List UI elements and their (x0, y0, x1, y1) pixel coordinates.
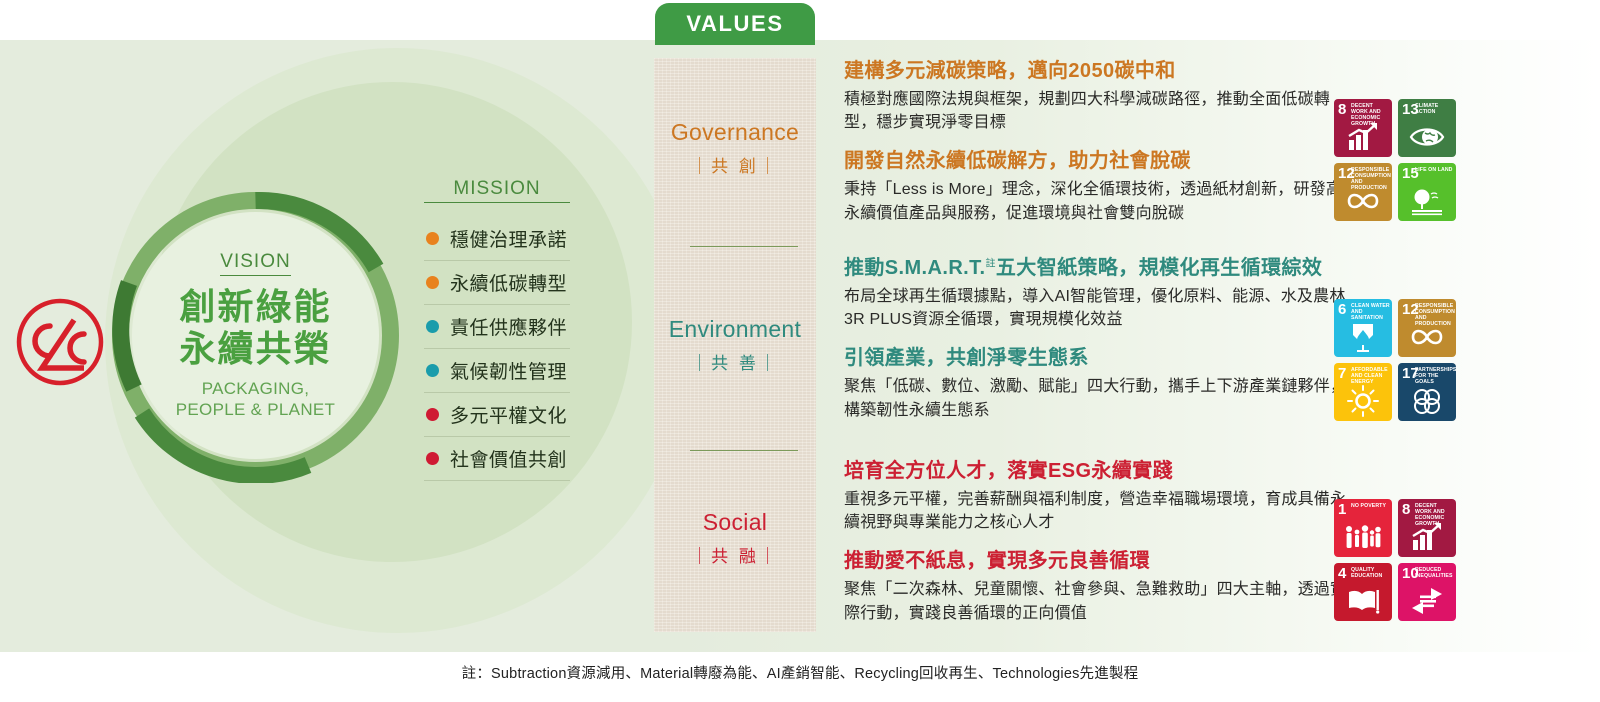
circles-icon (1398, 384, 1456, 418)
eye-globe-icon (1398, 120, 1456, 154)
infinity-icon (1398, 320, 1456, 354)
mission-item-label: 氣候韌性管理 (450, 357, 567, 384)
section-label-cn: ｜共 創｜ (654, 152, 816, 177)
sdg-icon-13: 13Climate action (1398, 99, 1456, 157)
vision-label: VISION (220, 251, 290, 276)
sdg-title: Affordable and clean energy (1351, 367, 1390, 385)
sdg-icon-1: 1No poverty (1334, 499, 1392, 557)
sdg-number: 1 (1338, 502, 1346, 517)
mission-item-label: 穩健治理承諾 (450, 225, 567, 252)
vision-headline: 創新綠能 永續共榮 (179, 286, 331, 370)
headline-main: 推動S.M.A.R.T. (844, 257, 985, 279)
section-label-en: Environment (654, 315, 816, 345)
value-block: 培育全方位人才，落實ESG永續實踐重視多元平權，完善薪酬與福利制度，營造幸福職場… (844, 458, 1354, 534)
mission-item: 責任供應夥伴 (424, 305, 570, 349)
section-content-governance: 建構多元減碳策略，邁向2050碳中和積極對應國際法規與框架，規劃四大科學減碳路徑… (844, 58, 1354, 225)
sdg-title: Quality education (1351, 567, 1390, 579)
value-block-body: 積極對應國際法規與框架，規劃四大科學減碳路徑，推動全面低碳轉型，穩步實現淨零目標 (844, 88, 1354, 134)
values-tab: VALUES (655, 3, 815, 45)
value-block-headline: 培育全方位人才，落實ESG永續實踐 (844, 458, 1354, 485)
sdg-icon-4: 4Quality education (1334, 563, 1392, 621)
vision-headline-line1: 創新綠能 (179, 286, 331, 328)
mission-item-label: 社會價值共創 (450, 445, 567, 472)
sdg-group-governance: 8Decent work and economic growth13Climat… (1334, 99, 1456, 221)
sdg-title: Clean water and sanitation (1351, 303, 1390, 321)
section-label-cn: ｜共 融｜ (654, 542, 816, 567)
mission-item: 氣候韌性管理 (424, 349, 570, 393)
section-content-environment: 推動S.M.A.R.T.註五大智紙策略，規模化再生循環綜效布局全球再生循環據點，… (844, 255, 1354, 422)
sdg-number: 4 (1338, 566, 1346, 581)
value-block-headline: 推動S.M.A.R.T.註五大智紙策略，規模化再生循環綜效 (844, 255, 1354, 282)
sun-icon (1334, 384, 1392, 418)
equal-arrows-icon (1398, 584, 1456, 618)
mission-bullet-icon (426, 364, 439, 377)
section-label-en: Social (654, 508, 816, 538)
sdg-title: Partnerships for the goals (1415, 367, 1454, 385)
mission-item: 多元平權文化 (424, 393, 570, 437)
sdg-icon-8: 8Decent work and economic growth (1334, 99, 1392, 157)
vision-headline-line2: 永續共榮 (179, 328, 331, 370)
sdg-icon-15: 15Life on land (1398, 163, 1456, 221)
mission-bullet-icon (426, 408, 439, 421)
mission-item-label: 多元平權文化 (450, 401, 567, 428)
sdg-title: Life on land (1415, 167, 1454, 173)
value-block-body: 秉持「Less is More」理念，深化全循環技術，透過紙材創新，研發高永續價… (844, 178, 1354, 224)
mission-item: 永續低碳轉型 (424, 261, 570, 305)
mission-bullet-icon (426, 276, 439, 289)
value-block-body: 聚焦「二次森林、兒童關懷、社會參與、急難救助」四大主軸，透過實際行動，實踐良善循… (844, 578, 1354, 624)
section-label-governance: Governance｜共 創｜ (654, 118, 816, 177)
sdg-icon-8: 8Decent work and economic growth (1398, 499, 1456, 557)
value-block: 建構多元減碳策略，邁向2050碳中和積極對應國際法規與框架，規劃四大科學減碳路徑… (844, 58, 1354, 134)
section-content-social: 培育全方位人才，落實ESG永續實踐重視多元平權，完善薪酬與福利制度，營造幸福職場… (844, 458, 1354, 625)
mission-item: 社會價值共創 (424, 437, 570, 481)
value-block-headline: 開發自然永續低碳解方，助力社會脫碳 (844, 148, 1354, 175)
section-label-en: Governance (654, 118, 816, 148)
sdg-icon-6: 6Clean water and sanitation (1334, 299, 1392, 357)
headline-footnote-marker: 註 (985, 258, 995, 269)
sdg-number: 8 (1338, 102, 1346, 117)
sdg-title: Climate action (1415, 103, 1454, 115)
sdg-title: No poverty (1351, 503, 1390, 509)
headline-rest: 五大智紙策略，規模化再生循環綜效 (996, 257, 1322, 279)
mission-bullet-icon (426, 232, 439, 245)
sdg-icon-10: 10Reduced inequalities (1398, 563, 1456, 621)
tree-bird-icon (1398, 184, 1456, 218)
section-label-cn: ｜共 善｜ (654, 349, 816, 374)
water-drop-icon (1334, 320, 1392, 354)
value-block-headline: 建構多元減碳策略，邁向2050碳中和 (844, 58, 1354, 85)
footnote: 註：Subtraction資源減用、Material轉廢為能、AI產銷智能、Re… (0, 662, 1600, 683)
value-block: 開發自然永續低碳解方，助力社會脫碳秉持「Less is More」理念，深化全循… (844, 148, 1354, 224)
sdg-icon-17: 17Partnerships for the goals (1398, 363, 1456, 421)
sdg-icon-12: 12Responsible consumption and production (1334, 163, 1392, 221)
mission-block: MISSION 穩健治理承諾永續低碳轉型責任供應夥伴氣候韌性管理多元平權文化社會… (424, 178, 570, 481)
mission-item: 穩健治理承諾 (424, 217, 570, 261)
value-block: 引領產業，共創淨零生態系聚焦「低碳、數位、激勵、賦能」四大行動，攜手上下游產業鏈… (844, 345, 1354, 421)
mission-bullet-icon (426, 320, 439, 333)
mission-list: 穩健治理承諾永續低碳轉型責任供應夥伴氣候韌性管理多元平權文化社會價值共創 (424, 217, 570, 481)
vision-subtitle: PACKAGING, PEOPLE & PLANET (176, 378, 335, 421)
value-block: 推動S.M.A.R.T.註五大智紙策略，規模化再生循環綜效布局全球再生循環據點，… (844, 255, 1354, 331)
mission-item-label: 永續低碳轉型 (450, 269, 567, 296)
value-block-body: 聚焦「低碳、數位、激勵、賦能」四大行動，攜手上下游產業鏈夥伴，構築韌性永續生態系 (844, 375, 1354, 421)
value-block-headline: 引領產業，共創淨零生態系 (844, 345, 1354, 372)
infinity-icon (1334, 184, 1392, 218)
growth-chart-icon (1334, 120, 1392, 154)
book-icon (1334, 584, 1392, 618)
sdg-number: 7 (1338, 366, 1346, 381)
mission-item-label: 責任供應夥伴 (450, 313, 567, 340)
sdg-group-environment: 6Clean water and sanitation12Responsible… (1334, 299, 1456, 421)
section-divider-2 (690, 450, 798, 451)
infographic-root: VALUES VISION 創新綠能 永續共榮 PACKAGING, PEOPL… (0, 0, 1600, 702)
value-block-headline: 推動愛不紙息，實現多元良善循環 (844, 548, 1354, 575)
mission-bullet-icon (426, 452, 439, 465)
value-block: 推動愛不紙息，實現多元良善循環聚焦「二次森林、兒童關懷、社會參與、急難救助」四大… (844, 548, 1354, 624)
sdg-icon-7: 7Affordable and clean energy (1334, 363, 1392, 421)
sdg-number: 8 (1402, 502, 1410, 517)
sdg-icon-12: 12Responsible consumption and production (1398, 299, 1456, 357)
values-tab-label: VALUES (686, 11, 783, 37)
vision-subtitle-line1: PACKAGING, (176, 378, 335, 399)
sdg-title: Reduced inequalities (1415, 567, 1454, 579)
value-block-body: 重視多元平權，完善薪酬與福利制度，營造幸福職場環境，育成具備永續視野與專業能力之… (844, 488, 1354, 534)
clc-logo (12, 294, 108, 390)
section-label-social: Social｜共 融｜ (654, 508, 816, 567)
sdg-group-social: 1No poverty8Decent work and economic gro… (1334, 499, 1456, 621)
vision-subtitle-line2: PEOPLE & PLANET (176, 399, 335, 420)
growth-chart-icon (1398, 520, 1456, 554)
mission-title: MISSION (424, 178, 570, 203)
value-block-body: 布局全球再生循環據點，導入AI智能管理，優化原料、能源、水及農林3R PLUS資… (844, 285, 1354, 331)
sdg-number: 6 (1338, 302, 1346, 317)
family-icon (1334, 520, 1392, 554)
vision-content: VISION 創新綠能 永續共榮 PACKAGING, PEOPLE & PLA… (132, 212, 379, 459)
section-label-environment: Environment｜共 善｜ (654, 315, 816, 374)
